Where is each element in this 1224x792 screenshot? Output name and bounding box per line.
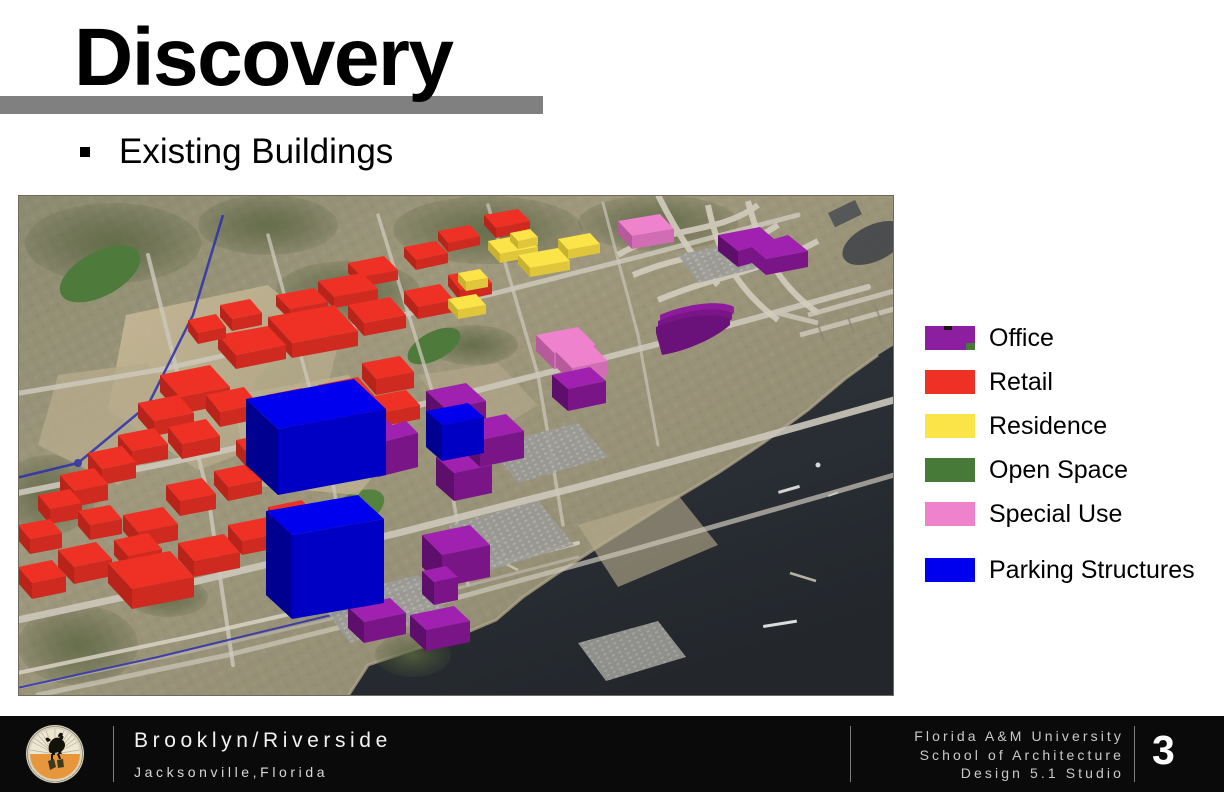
office-swatch-green-corner xyxy=(966,343,975,350)
svg-text:F: F xyxy=(49,778,51,782)
map-legend: Office Retail Residence Open Space Speci… xyxy=(925,316,1215,592)
legend-label-parking-structures: Parking Structures xyxy=(989,556,1195,584)
retail-swatch xyxy=(925,370,975,394)
footer-divider-left xyxy=(113,726,114,782)
footer-project-city: Jacksonville,Florida xyxy=(134,760,392,784)
footer-divider-middle xyxy=(850,726,851,782)
footer-school-line-2: School of Architecture xyxy=(860,746,1124,765)
parking-structures-swatch xyxy=(925,558,975,582)
legend-item-retail: Retail xyxy=(925,360,1215,404)
footer-school-line-1: Florida A&M University xyxy=(860,727,1124,746)
legend-label-open-space: Open Space xyxy=(989,456,1128,484)
aerial-massing-illustration xyxy=(18,195,894,696)
legend-label-special-use: Special Use xyxy=(989,500,1122,528)
page-number: 3 xyxy=(1152,722,1175,778)
legend-item-residence: Residence xyxy=(925,404,1215,448)
existing-buildings-aerial-map xyxy=(18,195,894,696)
footer-project-name: Brooklyn/Riverside xyxy=(134,726,392,756)
bullet-item-label: Existing Buildings xyxy=(119,130,393,174)
residence-swatch xyxy=(925,414,975,438)
open-space-swatch xyxy=(925,458,975,482)
footer-divider-right xyxy=(1134,726,1135,782)
page-title: Discovery xyxy=(74,17,453,99)
legend-label-residence: Residence xyxy=(989,412,1107,440)
footer-school-line-3: Design 5.1 Studio xyxy=(860,764,1124,783)
svg-text:A: A xyxy=(58,778,60,782)
legend-item-office: Office xyxy=(925,316,1215,360)
footer-school-block: Florida A&M University School of Archite… xyxy=(860,727,1124,783)
bullet-list-item: Existing Buildings xyxy=(80,130,393,174)
office-swatch-notch xyxy=(944,326,952,330)
square-bullet-icon xyxy=(80,147,90,157)
legend-item-open-space: Open Space xyxy=(925,448,1215,492)
legend-item-special-use: Special Use xyxy=(925,492,1215,536)
office-swatch xyxy=(925,326,975,350)
footer-project-block: Brooklyn/Riverside Jacksonville,Florida xyxy=(134,726,392,784)
legend-label-office: Office xyxy=(989,324,1054,352)
legend-item-parking-structures: Parking Structures xyxy=(925,548,1215,592)
legend-label-retail: Retail xyxy=(989,368,1053,396)
special-use-swatch xyxy=(925,502,975,526)
city-of-jacksonville-seal-icon: C I T Y O F J A C K S N xyxy=(24,723,86,785)
